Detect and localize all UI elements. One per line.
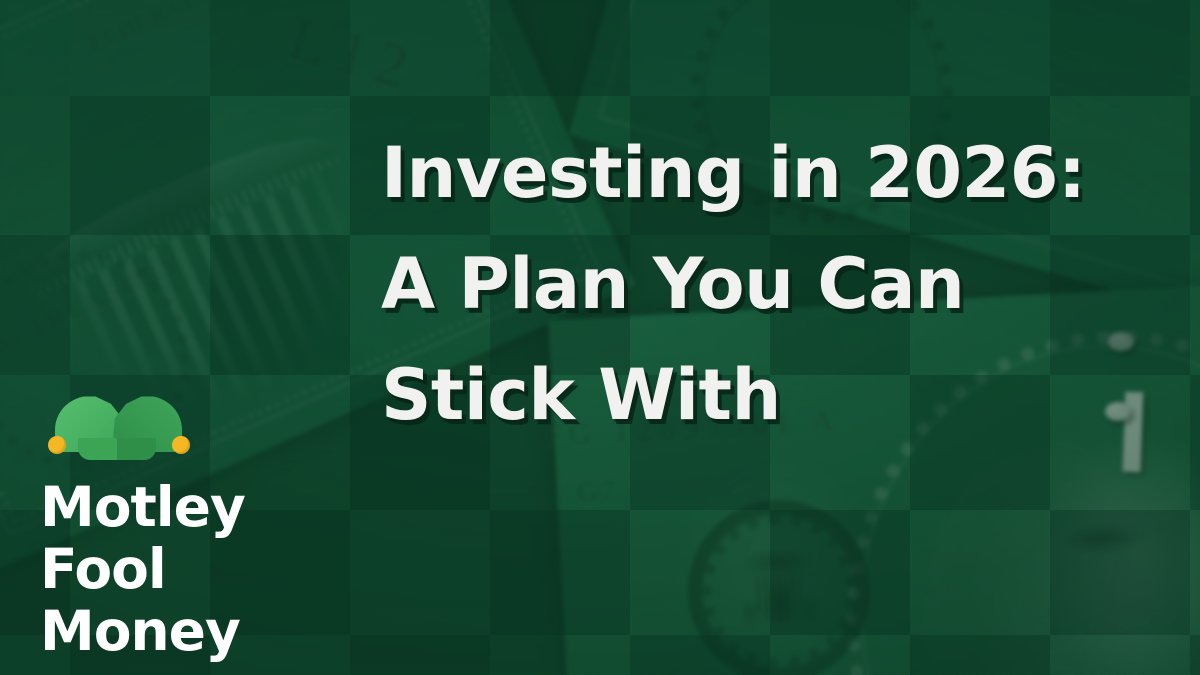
brand-word-1: Motley	[40, 476, 280, 538]
tile	[1190, 0, 1200, 96]
tile	[350, 510, 490, 635]
tile	[70, 96, 210, 235]
tile	[350, 0, 490, 96]
tile	[210, 235, 350, 375]
tile	[770, 0, 910, 96]
tile	[490, 0, 630, 96]
tile	[1190, 375, 1200, 510]
tile	[1190, 235, 1200, 375]
hat-ball-right	[172, 436, 190, 454]
tile	[70, 0, 210, 96]
video-thumbnail: U.S. TREASURY FEDERAL RESERVE NOTE L12 F…	[0, 0, 1200, 675]
page-title: Investing in 2026: A Plan You Can Stick …	[381, 118, 1171, 451]
tile	[910, 0, 1050, 96]
brand-word-3: Money	[40, 600, 280, 662]
tile	[910, 635, 1050, 675]
tile	[630, 510, 770, 635]
title-line-2: A Plan You Can	[381, 229, 1171, 340]
tile	[210, 0, 350, 96]
hat-band-shade	[117, 438, 156, 460]
tile	[910, 510, 1050, 635]
hat-ball-left	[48, 436, 66, 454]
motley-fool-money-logo: Motley Fool Money	[40, 396, 280, 662]
jester-hat-icon	[48, 396, 190, 462]
tile	[490, 510, 630, 635]
brand-word-2: Fool	[40, 538, 280, 600]
tile	[1050, 510, 1190, 635]
tile	[490, 635, 630, 675]
tile	[1190, 510, 1200, 635]
tile	[1050, 0, 1190, 96]
tile	[1190, 635, 1200, 675]
title-line-1: Investing in 2026:	[381, 118, 1171, 229]
title-line-3: Stick With	[381, 340, 1171, 451]
tile	[350, 635, 490, 675]
tile	[630, 0, 770, 96]
brand-wordmark: Motley Fool Money	[40, 476, 280, 662]
tile	[0, 235, 70, 375]
tile	[1190, 96, 1200, 235]
tile	[1050, 635, 1190, 675]
tile	[630, 635, 770, 675]
tile	[0, 96, 70, 235]
tile	[0, 0, 70, 96]
tile	[210, 96, 350, 235]
tile	[770, 635, 910, 675]
tile	[770, 510, 910, 635]
tile	[70, 235, 210, 375]
